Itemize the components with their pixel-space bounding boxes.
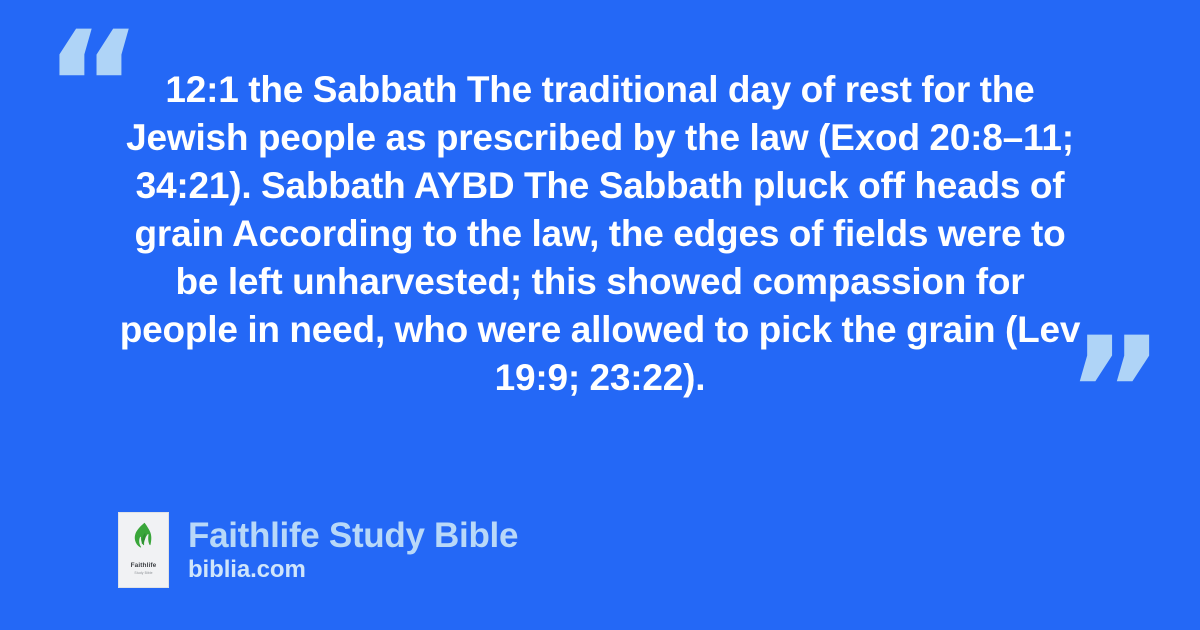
- close-quote-icon: ”: [1066, 318, 1163, 468]
- quote-container: 12:1 the Sabbath The traditional day of …: [0, 0, 1200, 470]
- quote-card: “ 12:1 the Sabbath The traditional day o…: [0, 0, 1200, 630]
- book-cover-brand: Faithlife: [131, 563, 157, 570]
- book-cover-subtitle: Study Bible: [134, 572, 152, 575]
- book-cover-thumbnail: Faithlife Study Bible: [118, 512, 169, 588]
- source-title: Faithlife Study Bible: [188, 517, 518, 555]
- faithlife-leaf-icon: [132, 522, 156, 552]
- quote-text: 12:1 the Sabbath The traditional day of …: [119, 66, 1081, 402]
- source-url[interactable]: biblia.com: [188, 557, 518, 583]
- source-text-block: Faithlife Study Bible biblia.com: [188, 517, 518, 583]
- source-attribution[interactable]: Faithlife Study Bible Faithlife Study Bi…: [118, 512, 518, 588]
